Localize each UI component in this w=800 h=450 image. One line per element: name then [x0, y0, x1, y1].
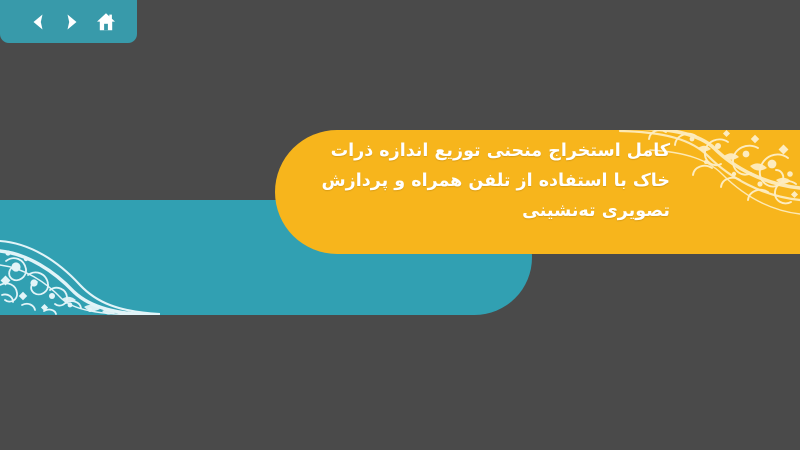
- page-title: کامل استخراج منحنی توزیع اندازه ذرات خاک…: [300, 136, 670, 226]
- title-line-3: تصویری ته‌نشینی: [300, 196, 670, 226]
- title-line-1: کامل استخراج منحنی توزیع اندازه ذرات: [300, 136, 670, 166]
- title-line-2: خاک با استفاده از تلفن همراه و پردازش: [300, 166, 670, 196]
- back-arrow-icon: [28, 12, 48, 32]
- presentation-slide: کامل استخراج منحنی توزیع اندازه ذرات خاک…: [0, 0, 800, 450]
- arabesque-ornament-icon: [0, 200, 160, 315]
- home-icon: [95, 11, 117, 33]
- home-button[interactable]: [90, 6, 122, 38]
- back-button[interactable]: [22, 6, 54, 38]
- forward-arrow-icon: [62, 12, 82, 32]
- navigation-bar[interactable]: [0, 0, 137, 43]
- forward-button[interactable]: [56, 6, 88, 38]
